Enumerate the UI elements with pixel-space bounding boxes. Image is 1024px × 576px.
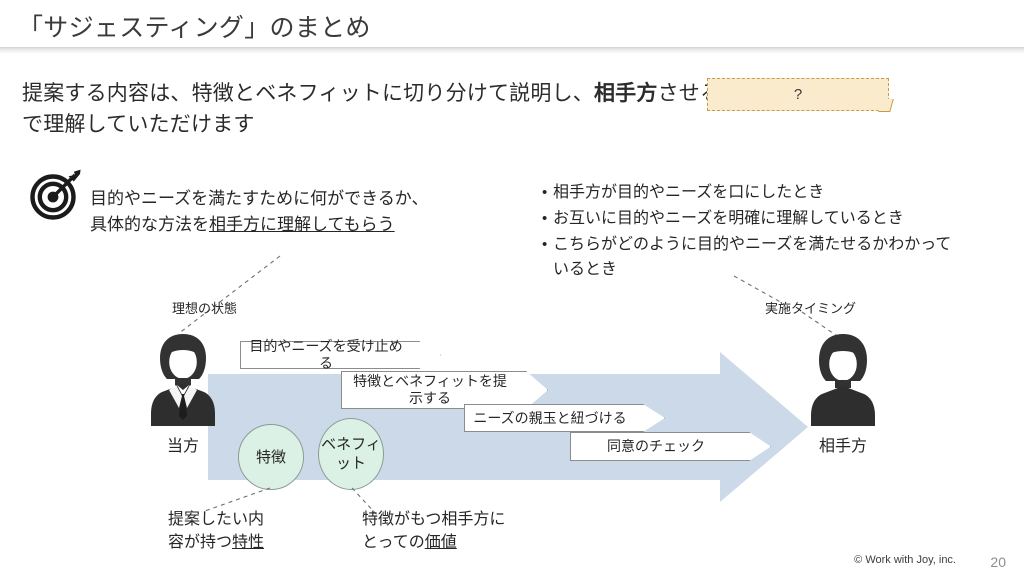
step-callout-4[interactable]: 同意のチェック	[570, 432, 750, 461]
bottom-note-feature-line2-plain: 容が持つ	[168, 534, 232, 551]
list-item-line1: こちらがどのように目的やニーズを満たせるかわかって	[553, 236, 951, 253]
slide-canvas: 「サジェスティング」のまとめ 提案する内容は、特徴とベネフィットに切り分けて説明…	[0, 0, 1024, 576]
bottom-note-feature-line1: 提案したい内	[168, 511, 264, 528]
bottom-note-feature-line2-underline: 特性	[232, 534, 264, 551]
note-implementation-timing: 実施タイミング	[765, 298, 856, 317]
page-title: 「サジェスティング」のまとめ	[18, 8, 371, 44]
lead-text-part1: 提案する内容は、特徴とベネフィットに切り分けて説明し、	[22, 82, 594, 105]
title-bar: 「サジェスティング」のまとめ	[0, 0, 1024, 47]
list-item-line2: いるとき	[553, 261, 617, 278]
lead-text-bold: 相手方	[594, 82, 658, 105]
goal-note-line2-underline: 相手方に理解し	[209, 215, 328, 234]
note-ideal-state: 理想の状態	[172, 298, 237, 317]
page-number: 20	[990, 554, 1006, 570]
person-self-icon	[146, 328, 220, 428]
timing-bullet-list: 相手方が目的やニーズを口にしたとき お互いに目的やニーズを明確に理解しているとき…	[542, 180, 1002, 283]
goal-note-line1: 目的やニーズを満たすために何ができ	[90, 189, 378, 208]
person-counterpart-icon	[806, 328, 880, 428]
list-item: 相手方が目的やニーズを口にしたとき	[542, 180, 1002, 205]
bottom-note-benefit-line2-plain: とっての	[362, 534, 425, 551]
bottom-note-benefit-line1: 特徴がもつ相手方に	[362, 511, 505, 528]
bottom-note-benefit-line2-underline: 価値	[425, 534, 457, 551]
bottom-note-benefit: 特徴がもつ相手方にとっての価値	[362, 508, 552, 554]
target-icon	[30, 168, 82, 220]
goal-note-line3-underline: てもらう	[328, 215, 395, 234]
bottom-note-feature: 提案したい内容が持つ特性	[168, 508, 358, 554]
list-item: お互いに目的やニーズを明確に理解しているとき	[542, 206, 1002, 231]
title-divider	[0, 47, 1024, 54]
lead-text-line2: で理解していただけます	[22, 113, 255, 136]
copyright-text: © Work with Joy, inc.	[854, 554, 956, 566]
person-self-label: 当方	[123, 432, 243, 456]
step-callout-1[interactable]: 目的やニーズを受け止める	[240, 341, 420, 369]
step-callout-3[interactable]: ニーズの親玉と紐づける	[464, 404, 644, 432]
list-item: こちらがどのように目的やニーズを満たせるかわかっているとき	[542, 232, 1002, 282]
leader-line-ideal	[150, 250, 290, 340]
answer-mask-box[interactable]: ?	[707, 78, 889, 111]
person-counterpart-label: 相手方	[783, 432, 903, 456]
circle-benefit[interactable]: ベネフィット	[318, 418, 384, 490]
question-mark-label: ?	[708, 79, 888, 110]
goal-note-text: 目的やニーズを満たすために何ができるか、具体的な方法を相手方に理解してもらう	[90, 186, 440, 238]
circle-feature[interactable]: 特徴	[238, 424, 304, 490]
